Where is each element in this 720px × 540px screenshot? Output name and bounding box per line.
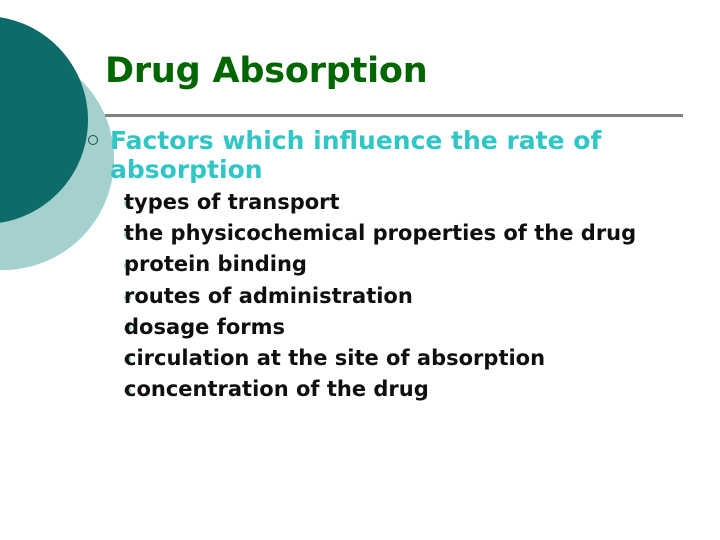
list-item: dosage forms [88,315,700,340]
dot-bullet-icon [88,284,124,301]
dot-bullet-icon [88,315,124,332]
dot-bullet-icon [88,221,124,238]
title-block: Drug Absorption [105,52,685,91]
title-divider [105,114,683,117]
bullet-body: Factors which influence the rate of abso… [88,126,700,408]
dot-bullet-icon [88,190,124,207]
list-item-level1: Factors which influence the rate of abso… [88,126,700,184]
list-item-label: protein binding [124,252,669,277]
list-item-label: concentration of the drug [124,377,669,402]
dark-teal-circle [0,16,88,224]
list-item-label: dosage forms [124,315,669,340]
dot-bullet-icon [88,377,124,394]
dot-bullet-icon [88,252,124,269]
list-item: concentration of the drug [88,377,700,402]
dot-bullet-icon [88,346,124,363]
list-item: routes of administration [88,284,700,309]
sub-bullet-list: types of transport the physicochemical p… [88,190,700,402]
open-circle-bullet-icon [88,126,110,145]
page-title: Drug Absorption [105,52,685,91]
list-item-label: the physicochemical properties of the dr… [124,221,669,246]
list-item: protein binding [88,252,700,277]
list-item-label: types of transport [124,190,669,215]
list-item: types of transport [88,190,700,215]
list-item-label: routes of administration [124,284,669,309]
slide: Drug Absorption Factors which influence … [0,0,720,540]
list-item: the physicochemical properties of the dr… [88,221,700,246]
list-item-level1-label: Factors which influence the rate of abso… [110,126,670,184]
list-item: circulation at the site of absorption [88,346,700,371]
list-item-label: circulation at the site of absorption [124,346,669,371]
